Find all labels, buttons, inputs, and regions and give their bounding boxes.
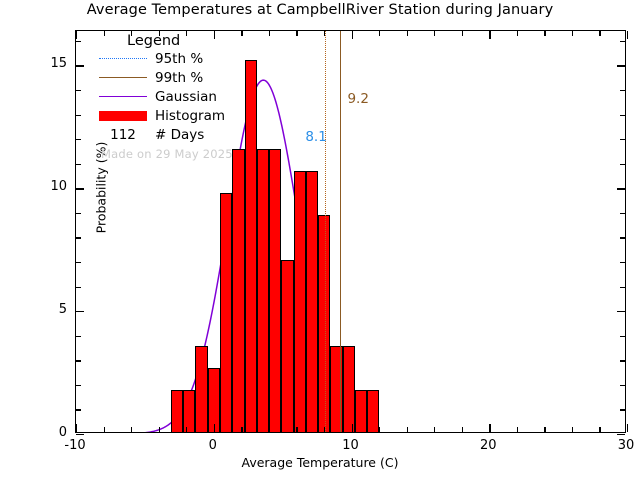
tick-mark xyxy=(76,287,81,288)
tick-mark xyxy=(620,90,625,91)
tick-mark xyxy=(352,31,353,39)
tick-mark xyxy=(517,31,518,36)
histogram-bar xyxy=(220,193,232,432)
tick-mark xyxy=(434,427,435,432)
tick-mark xyxy=(76,262,81,263)
tick-mark xyxy=(76,115,81,116)
tick-mark xyxy=(407,427,408,432)
tick-mark xyxy=(186,427,187,432)
red-swatch-icon xyxy=(97,110,149,122)
tick-mark xyxy=(489,31,490,39)
tick-mark xyxy=(620,336,625,337)
histogram-bar xyxy=(318,215,330,432)
tick-mark xyxy=(407,31,408,36)
tick-mark xyxy=(76,188,84,189)
histogram-bar xyxy=(281,260,293,432)
histogram-bar xyxy=(195,346,207,432)
tick-mark xyxy=(620,237,625,238)
tick-mark xyxy=(572,427,573,432)
tick-mark xyxy=(620,409,625,410)
p95-value-label: 8.1 xyxy=(305,129,326,145)
x-tick-label: 20 xyxy=(463,438,513,453)
tick-mark xyxy=(241,427,242,432)
tick-mark xyxy=(76,213,81,214)
tick-mark xyxy=(76,65,84,66)
y-tick-label: 15 xyxy=(27,56,67,71)
tick-mark xyxy=(617,65,625,66)
dotted-line-icon xyxy=(97,53,149,65)
histogram-bar xyxy=(232,149,244,432)
histogram-bar xyxy=(306,171,318,432)
tick-mark xyxy=(489,424,490,432)
p95-line xyxy=(325,31,326,432)
tick-mark xyxy=(620,213,625,214)
tick-mark xyxy=(617,311,625,312)
tick-mark xyxy=(627,424,628,432)
legend-item-histogram: Histogram xyxy=(97,106,277,125)
tick-mark xyxy=(544,31,545,36)
days-label: # Days xyxy=(149,127,204,143)
legend-item-gaussian: Gaussian xyxy=(97,87,277,106)
legend-item-days: 112 # Days xyxy=(97,125,277,144)
tick-mark xyxy=(324,31,325,36)
histogram-bar xyxy=(269,149,281,432)
tick-mark xyxy=(76,139,81,140)
tick-mark xyxy=(544,427,545,432)
legend-label-95th: 95th % xyxy=(149,51,203,67)
tick-mark xyxy=(462,427,463,432)
legend: Legend 95th % 99th % Gaussian Histogram … xyxy=(97,33,277,161)
legend-label-99th: 99th % xyxy=(149,70,203,86)
made-on-stamp: Made on 29 May 2025 xyxy=(97,144,277,161)
solid-line-icon xyxy=(97,72,149,84)
tick-mark xyxy=(617,434,625,435)
tick-mark xyxy=(620,115,625,116)
tick-mark xyxy=(76,31,77,39)
x-tick-label: 30 xyxy=(601,438,640,453)
tick-mark xyxy=(434,31,435,36)
histogram-bar xyxy=(367,390,379,432)
tick-mark xyxy=(159,427,160,432)
histogram-bar xyxy=(294,171,306,432)
tick-mark xyxy=(462,31,463,36)
tick-mark xyxy=(620,360,625,361)
tick-mark xyxy=(599,31,600,36)
tick-mark xyxy=(572,31,573,36)
page-title: Average Temperatures at CampbellRiver St… xyxy=(0,2,640,18)
x-tick-label: 10 xyxy=(326,438,376,453)
tick-mark xyxy=(76,237,81,238)
tick-mark xyxy=(76,41,81,42)
tick-mark xyxy=(76,434,84,435)
tick-mark xyxy=(352,424,353,432)
x-tick-label: -10 xyxy=(50,438,100,453)
legend-title: Legend xyxy=(97,33,277,49)
tick-mark xyxy=(76,90,81,91)
legend-label-histogram: Histogram xyxy=(149,108,225,124)
tick-mark xyxy=(599,427,600,432)
tick-mark xyxy=(620,164,625,165)
p99-value-label: 9.2 xyxy=(347,91,368,107)
tick-mark xyxy=(620,287,625,288)
tick-mark xyxy=(76,424,77,432)
chart-root: Average Temperatures at CampbellRiver St… xyxy=(0,0,640,480)
histogram-bar xyxy=(208,368,220,432)
tick-mark xyxy=(76,385,81,386)
tick-mark xyxy=(214,424,215,432)
histogram-bar xyxy=(183,390,195,432)
p99-line xyxy=(340,31,341,432)
tick-mark xyxy=(104,427,105,432)
days-count: 112 xyxy=(97,127,149,143)
tick-mark xyxy=(620,139,625,140)
tick-mark xyxy=(76,360,81,361)
curve-line-icon xyxy=(97,91,149,103)
tick-mark xyxy=(76,336,81,337)
tick-mark xyxy=(296,427,297,432)
tick-mark xyxy=(324,427,325,432)
tick-mark xyxy=(379,31,380,36)
tick-mark xyxy=(517,427,518,432)
tick-mark xyxy=(620,385,625,386)
tick-mark xyxy=(620,41,625,42)
tick-mark xyxy=(620,262,625,263)
legend-item-99th: 99th % xyxy=(97,68,277,87)
tick-mark xyxy=(76,311,84,312)
tick-mark xyxy=(76,164,81,165)
y-tick-label: 5 xyxy=(27,302,67,317)
legend-label-gaussian: Gaussian xyxy=(149,89,217,105)
x-tick-label: 0 xyxy=(188,438,238,453)
tick-mark xyxy=(627,31,628,39)
x-axis-label: Average Temperature (C) xyxy=(0,455,640,470)
tick-mark xyxy=(269,427,270,432)
tick-mark xyxy=(617,188,625,189)
histogram-bar xyxy=(171,390,183,432)
y-tick-label: 10 xyxy=(27,179,67,194)
tick-mark xyxy=(296,31,297,36)
histogram-bar xyxy=(355,390,367,432)
histogram-bar xyxy=(257,149,269,432)
legend-item-95th: 95th % xyxy=(97,49,277,68)
tick-mark xyxy=(131,427,132,432)
tick-mark xyxy=(76,409,81,410)
tick-mark xyxy=(379,427,380,432)
histogram-bar xyxy=(343,346,355,432)
